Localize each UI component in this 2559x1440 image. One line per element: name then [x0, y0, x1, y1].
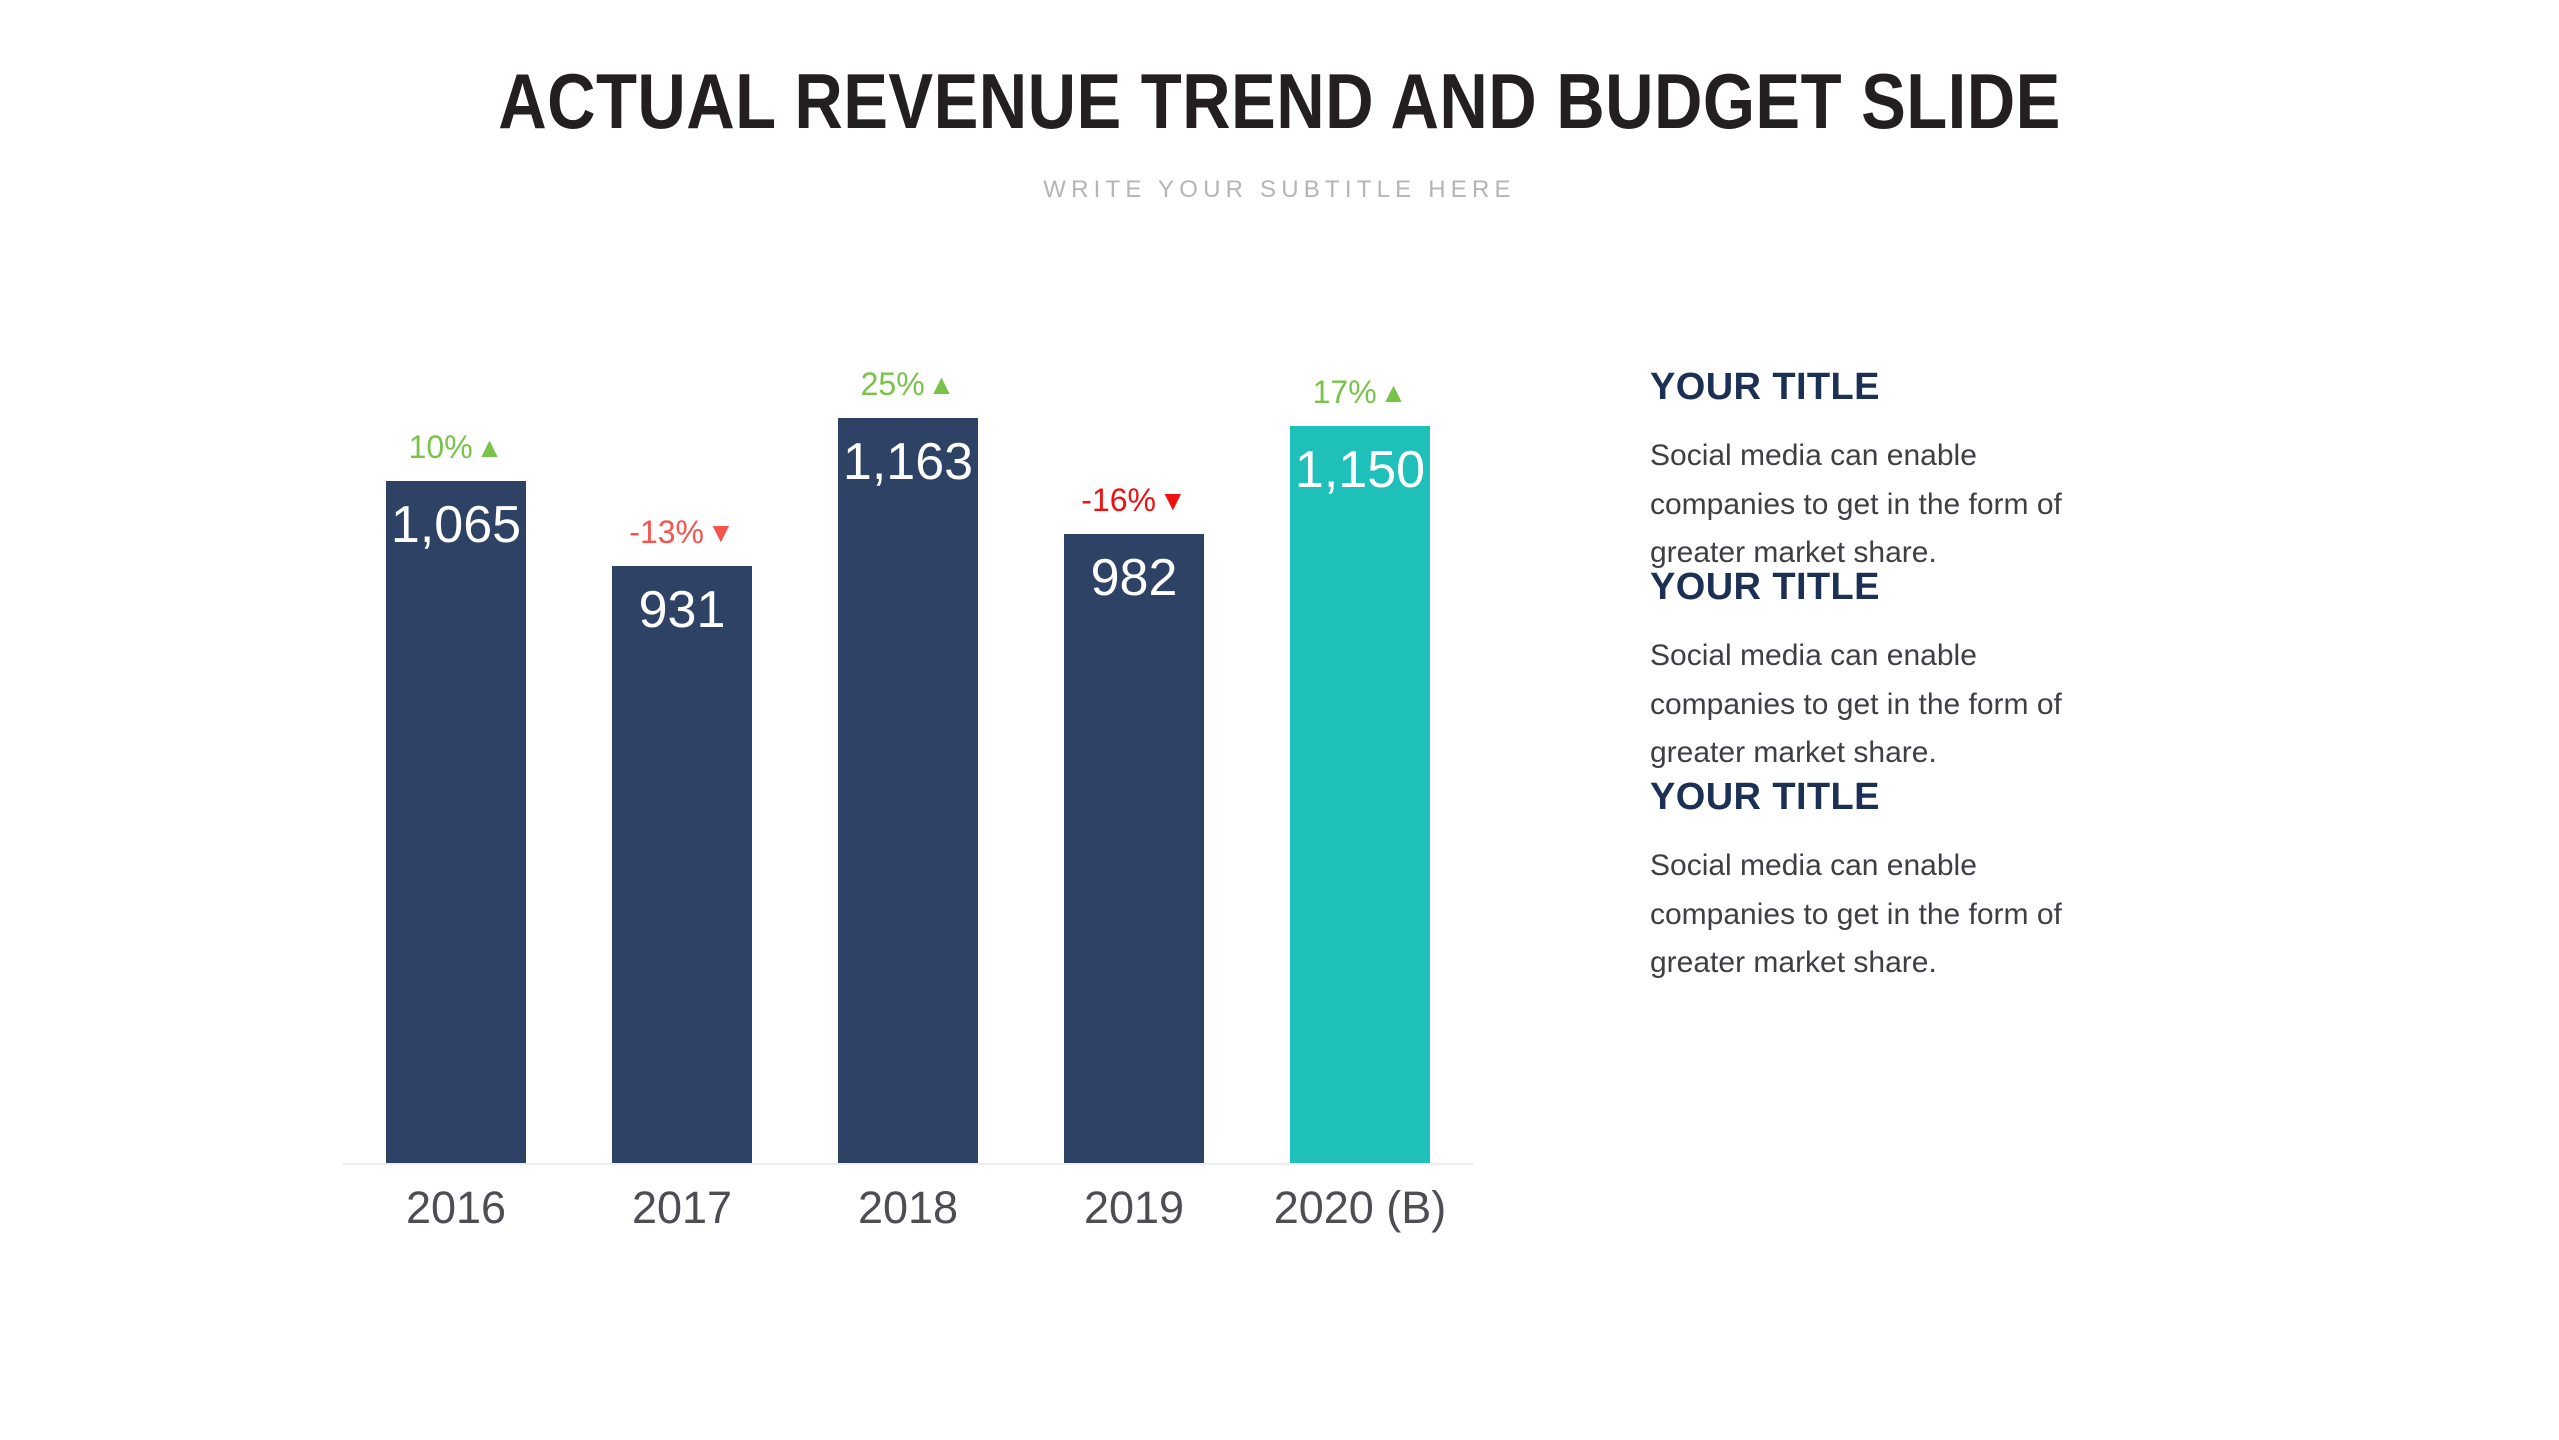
delta-percent-text: 17% [1313, 376, 1377, 408]
page-subtitle: WRITE YOUR SUBTITLE HERE [0, 176, 2559, 204]
bar-group-2017[interactable]: 931-13%▼ [569, 330, 795, 1163]
bar-group-2016[interactable]: 1,06510%▲ [343, 330, 569, 1163]
bar-value-label: 1,065 [386, 499, 526, 551]
delta-percent-text: 10% [409, 431, 473, 463]
bar-group-2019[interactable]: 982-16%▼ [1021, 330, 1247, 1163]
bar-rect[interactable]: 1,163 [838, 418, 978, 1163]
arrow-up-icon: ▲ [1380, 379, 1408, 407]
delta-percent-text: -13% [629, 516, 704, 548]
description-block-2: YOUR TITLESocial media can enable compan… [1650, 568, 2120, 778]
x-axis-tick-2017: 2017 [569, 1185, 795, 1230]
x-axis-tick-2018: 2018 [795, 1185, 1021, 1230]
bar-delta-label: 17%▲ [1313, 376, 1408, 408]
bar-group-2020-b-[interactable]: 1,15017%▲ [1247, 330, 1473, 1163]
description-block-body: Social media can enable companies to get… [1650, 842, 2120, 988]
bar-value-label: 1,163 [838, 436, 978, 488]
bar-delta-label: 10%▲ [409, 431, 504, 463]
x-axis-tick-2020-b-: 2020 (B) [1247, 1185, 1473, 1230]
bar-value-label: 1,150 [1290, 444, 1430, 496]
description-block-body: Social media can enable companies to get… [1650, 432, 2120, 578]
x-axis-tick-2016: 2016 [343, 1185, 569, 1230]
description-block-title: YOUR TITLE [1650, 568, 2120, 606]
description-block-3: YOUR TITLESocial media can enable compan… [1650, 778, 2120, 988]
arrow-up-icon: ▲ [476, 434, 504, 462]
description-block-body: Social media can enable companies to get… [1650, 632, 2120, 778]
description-block-title: YOUR TITLE [1650, 778, 2120, 816]
description-block-title: YOUR TITLE [1650, 368, 2120, 406]
delta-percent-text: 25% [861, 368, 925, 400]
chart-x-axis: 20162017201820192020 (B) [343, 1185, 1473, 1245]
page-title: ACTUAL REVENUE TREND AND BUDGET SLIDE [179, 62, 2380, 140]
chart-baseline-axis [343, 1163, 1473, 1165]
bar-value-label: 982 [1064, 552, 1204, 604]
x-axis-tick-2019: 2019 [1021, 1185, 1247, 1230]
arrow-down-icon: ▼ [1159, 487, 1187, 515]
bar-rect[interactable]: 982 [1064, 534, 1204, 1163]
bar-rect[interactable]: 1,150 [1290, 426, 1430, 1163]
bar-value-label: 931 [612, 584, 752, 636]
bar-delta-label: -16%▼ [1081, 484, 1186, 516]
arrow-up-icon: ▲ [928, 371, 956, 399]
revenue-bar-chart: 1,06510%▲931-13%▼1,16325%▲982-16%▼1,1501… [343, 330, 1473, 1165]
arrow-down-icon: ▼ [707, 519, 735, 547]
bar-rect[interactable]: 1,065 [386, 481, 526, 1163]
bar-group-2018[interactable]: 1,16325%▲ [795, 330, 1021, 1163]
bar-rect[interactable]: 931 [612, 566, 752, 1163]
bar-delta-label: 25%▲ [861, 368, 956, 400]
bar-delta-label: -13%▼ [629, 516, 734, 548]
description-block-1: YOUR TITLESocial media can enable compan… [1650, 368, 2120, 578]
delta-percent-text: -16% [1081, 484, 1156, 516]
